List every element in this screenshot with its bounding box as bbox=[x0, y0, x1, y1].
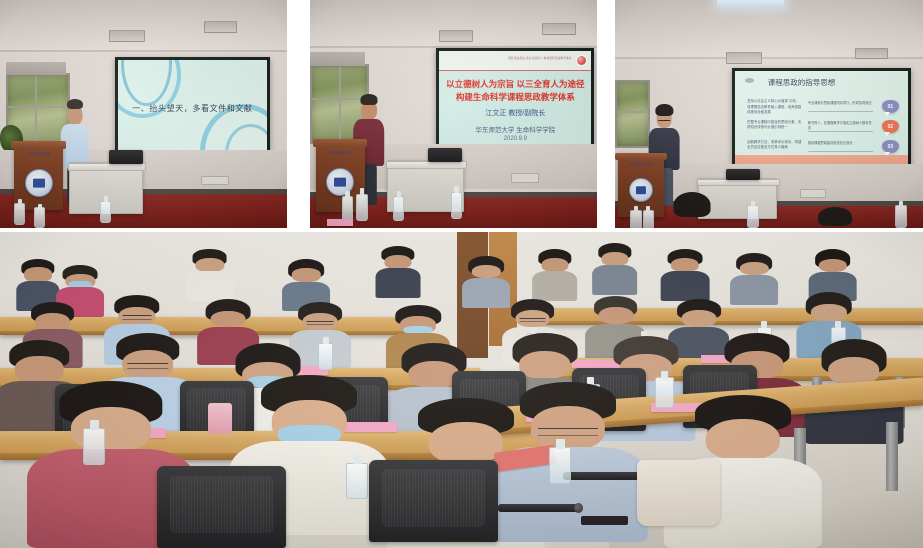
water-bottle bbox=[318, 343, 333, 370]
slide-3-badge: 03 bbox=[882, 140, 899, 153]
slide-3-badge: 01 bbox=[882, 100, 899, 113]
slide-3-row-rule bbox=[808, 111, 873, 112]
wall-outlet bbox=[511, 173, 539, 182]
ceiling-vent-icon bbox=[109, 30, 145, 42]
wall-outlet bbox=[800, 189, 827, 198]
water-bottle bbox=[83, 428, 105, 465]
ceiling-vent-icon bbox=[439, 30, 473, 42]
slide-3-row-left: 坚持以社会主义核心价值观 引领，将理想信念教育融入课程，培养德智体美劳全面发展 bbox=[747, 99, 802, 114]
university-crest-icon bbox=[629, 178, 653, 202]
speaker-amplifier bbox=[109, 150, 143, 164]
slide-3-row-rule bbox=[808, 151, 873, 152]
water-bottle bbox=[630, 210, 641, 228]
table-leg bbox=[886, 422, 898, 492]
chair bbox=[369, 460, 498, 542]
slide-3-row-right: 推动课程思政建设常态化长效化 bbox=[808, 141, 875, 145]
water-bottle bbox=[451, 192, 463, 219]
water-bottle bbox=[34, 207, 45, 227]
podium-top bbox=[615, 153, 667, 160]
photo-panel-4 bbox=[0, 232, 923, 548]
attendee bbox=[734, 257, 775, 304]
slide-2-date: 2020.9.9 bbox=[439, 136, 591, 142]
attendee bbox=[189, 254, 230, 301]
desk-top bbox=[386, 161, 467, 170]
podium: 华东师范大学 bbox=[14, 141, 63, 209]
ceiling bbox=[0, 0, 287, 52]
water-bottle bbox=[393, 196, 404, 221]
slide-2: 课程思政建设 落实立德树人 构建课程思政教学体系 以立德树人为宗旨 以三全育人为… bbox=[439, 51, 591, 151]
mobile-phone bbox=[581, 516, 627, 524]
slide-3-row: 坚持以社会主义核心价值观 引领，将理想信念教育融入课程，培养德智体美劳全面发展 … bbox=[747, 99, 899, 115]
slide-1: 一、抬头望天，多看文件和文献 bbox=[118, 60, 267, 160]
projection-screen: 课程思政的指导思想 坚持以社会主义核心价值观 引领，将理想信念教育融入课程，培养… bbox=[732, 68, 910, 174]
podium-label: 华东师范大学 bbox=[16, 152, 61, 157]
speaker-amplifier bbox=[428, 148, 462, 162]
water-bottle bbox=[14, 203, 25, 226]
photo-panel-1: 一、抬头望天，多看文件和文献 华东师范大学 bbox=[0, 0, 287, 228]
water-bottle bbox=[747, 205, 758, 228]
podium-top bbox=[11, 141, 66, 149]
slide-2-title-line-1: 以立德树人为宗旨 以三全育人为途径 bbox=[439, 78, 591, 91]
attendee-head bbox=[818, 210, 852, 228]
photo-panel-3: 课程思政的指导思想 坚持以社会主义核心价值观 引领，将理想信念教育融入课程，培养… bbox=[615, 0, 923, 228]
window-blind bbox=[310, 52, 365, 67]
slide-2-organization: 华东师范大学 生命科学学院 bbox=[439, 124, 591, 134]
attendee bbox=[535, 254, 574, 301]
window-blind bbox=[6, 62, 66, 77]
water-bottle bbox=[342, 196, 354, 221]
podium-label: 华东师范大学 bbox=[318, 151, 363, 156]
slide-1-heading: 一、抬头望天，多看文件和文献 bbox=[118, 103, 267, 114]
attendee bbox=[466, 260, 507, 307]
wireless-microphone bbox=[498, 504, 581, 512]
lecture-room-1: 一、抬头望天，多看文件和文献 华东师范大学 bbox=[0, 0, 287, 228]
slide-2-banner bbox=[439, 51, 591, 71]
window bbox=[615, 80, 650, 148]
lecture-room-3: 课程思政的指导思想 坚持以社会主义核心价值观 引领，将理想信念教育融入课程，培养… bbox=[615, 0, 923, 228]
attendee bbox=[595, 248, 634, 295]
photo-collage: 一、抬头望天，多看文件和文献 华东师范大学 bbox=[0, 0, 923, 548]
ceiling-vent-icon bbox=[855, 48, 888, 59]
water-bottle bbox=[356, 194, 368, 221]
university-crest-icon bbox=[25, 169, 53, 197]
ceiling-light bbox=[717, 0, 785, 7]
projection-screen: 一、抬头望天，多看文件和文献 bbox=[115, 57, 270, 163]
photo-panel-2: 课程思政建设 落实立德树人 构建课程思政教学体系 以立德树人为宗旨 以三全育人为… bbox=[310, 0, 597, 228]
water-bottle bbox=[346, 463, 368, 500]
podium: 华东师范大学 bbox=[618, 153, 664, 217]
tote-bag bbox=[637, 460, 720, 526]
slide-2-banner-note: 课程思政建设 落实立德树人 构建课程思政教学体系 bbox=[508, 56, 571, 60]
attendee bbox=[378, 251, 417, 298]
attendee-head bbox=[674, 196, 711, 228]
projection-screen: 课程思政建设 落实立德树人 构建课程思政教学体系 以立德树人为宗旨 以三全育人为… bbox=[436, 48, 594, 154]
audience-hall bbox=[0, 232, 923, 548]
slide-3-row: 创新教学方法，改革评价体系，构建全员全过程全方位育人格局 推动课程思政建设常态化… bbox=[747, 140, 899, 156]
speaker-amplifier bbox=[726, 169, 760, 180]
water-bottle bbox=[895, 205, 906, 228]
podium-top bbox=[313, 139, 368, 147]
ceiling-vent-icon bbox=[542, 23, 576, 35]
attendee bbox=[46, 396, 175, 548]
slide-2-presenter: 江文正 教授/副院长 bbox=[439, 108, 591, 118]
university-crest-icon bbox=[326, 168, 354, 196]
water-bottle bbox=[655, 377, 674, 407]
water-bottle bbox=[643, 210, 654, 228]
slide-3-row-left: 创新教学方法，改革评价体系，构建全员全过程全方位育人格局 bbox=[747, 140, 802, 150]
ceiling-vent-icon bbox=[726, 52, 762, 63]
slide-3-row-rule bbox=[808, 131, 873, 132]
desk-top bbox=[68, 163, 146, 172]
water-bottle bbox=[100, 201, 111, 224]
wall-outlet bbox=[201, 176, 229, 185]
slide-3-badge: 02 bbox=[882, 120, 899, 133]
thermos-cup bbox=[208, 403, 232, 435]
slide-3-row-right: 专业课程与思政课程同向同行，形成协同效应 bbox=[808, 101, 875, 105]
slide-2-title-line-2: 构建生命科学课程思政教学体系 bbox=[439, 91, 591, 104]
attendee bbox=[665, 254, 706, 301]
slide-2-title: 以立德树人为宗旨 以三全育人为途径 构建生命科学课程思政教学体系 bbox=[439, 78, 591, 104]
slide-3: 课程思政的指导思想 坚持以社会主义核心价值观 引领，将理想信念教育融入课程，培养… bbox=[735, 71, 907, 171]
chair bbox=[157, 466, 286, 548]
lecture-room-2: 课程思政建设 落实立德树人 构建课程思政教学体系 以立德树人为宗旨 以三全育人为… bbox=[310, 0, 597, 228]
slide-2-logo-icon bbox=[576, 55, 587, 66]
handout bbox=[327, 219, 353, 226]
water-bottle bbox=[549, 447, 571, 484]
ceiling-vent-icon bbox=[204, 21, 238, 33]
podium-label: 华东师范大学 bbox=[620, 163, 663, 168]
wireless-microphone bbox=[563, 472, 646, 480]
slide-3-row: 挖掘专业课程中蕴含的思政元素，实现知识传授与价值引领统一 教书育人，在课程教学中… bbox=[747, 120, 899, 136]
slide-3-title: 课程思政的指导思想 bbox=[768, 77, 836, 88]
slide-3-row-left: 挖掘专业课程中蕴含的思政元素，实现知识传授与价值引领统一 bbox=[747, 120, 802, 130]
slide-3-row-right: 教书育人，在课程教学中落实立德树人根本任务 bbox=[808, 121, 875, 130]
slide-3-bullet-icon bbox=[745, 78, 754, 83]
